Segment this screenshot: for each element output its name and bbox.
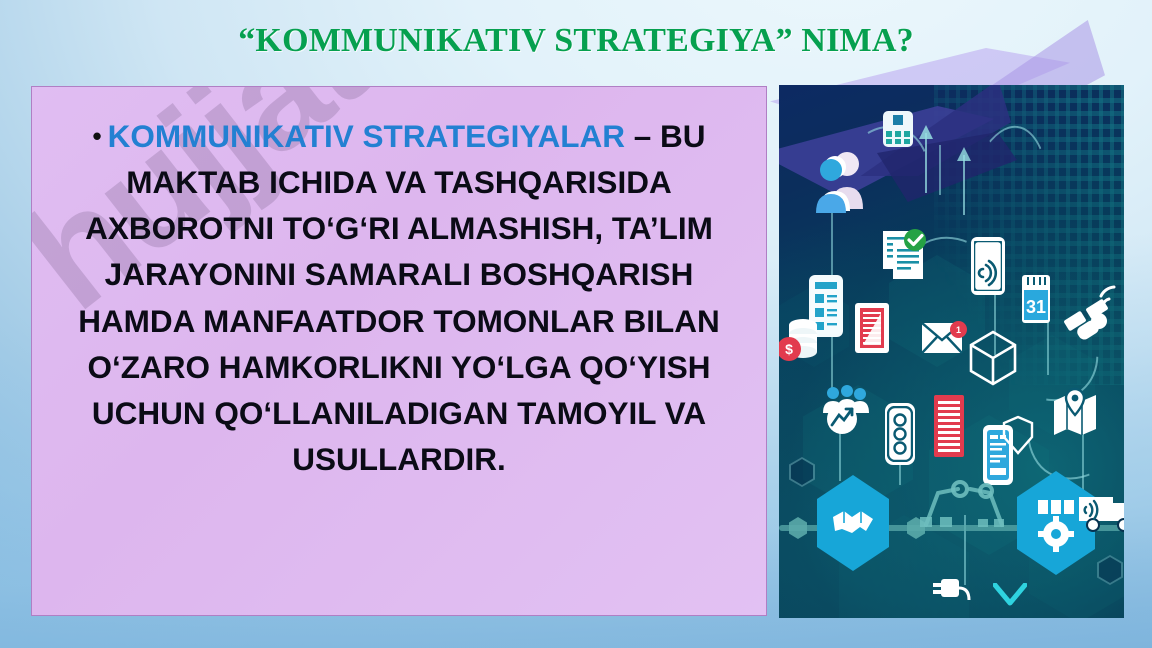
robot-arm-icon [912,473,1012,535]
delivery-truck-icon [1079,487,1124,537]
lead-phrase: KOMMUNIKATIV STRATEGIYALAR [108,118,625,154]
cube-icon [969,330,1017,386]
page-title: “KOMMUNIKATIV STRATEGIYA” NIMA? [0,22,1152,60]
envelope-icon: 1 [922,323,970,365]
mail-badge: 1 [950,321,967,338]
satellite-icon [1059,285,1121,351]
org-chart-icon [883,111,913,147]
body-text: •KOMMUNIKATIV STRATEGIYALAR – BU MAKTAB … [32,87,766,482]
plug-icon [927,571,971,605]
bullet-icon: • [92,121,101,151]
map-pin-icon [1051,383,1099,439]
arrow-up-icon [957,147,971,161]
technology-infographic-image: $ 1 [779,85,1124,618]
connector-line [939,145,941,195]
users-group-icon [811,147,869,215]
body-paragraph: BU MAKTAB ICHIDA VA TASHQARISIDA AXBOROT… [78,118,720,477]
traffic-light-icon [885,403,915,465]
arrow-shaft [963,155,965,215]
chevron-down-icon [993,583,1027,607]
shield-icon [1001,415,1035,455]
team-performance-icon [821,385,869,437]
arrow-up-icon [919,125,933,139]
arrow-shaft [925,133,927,193]
calendar-icon: 31 [1022,275,1050,323]
svg-text:31: 31 [1026,297,1046,317]
smartphone-signal-icon [971,237,1005,295]
slide-canvas: “KOMMUNIKATIV STRATEGIYA” NIMA? hujjat.u… [0,0,1152,648]
em-dash: – [625,118,660,154]
coins-stack-icon: $ [779,313,821,361]
checklist-approved-icon [881,227,933,281]
chart-document-icon [855,303,889,353]
content-card: hujjat.uz •KOMMUNIKATIV STRATEGIYALAR – … [31,86,767,616]
server-rack-icon [934,395,964,457]
svg-text:$: $ [785,341,793,357]
